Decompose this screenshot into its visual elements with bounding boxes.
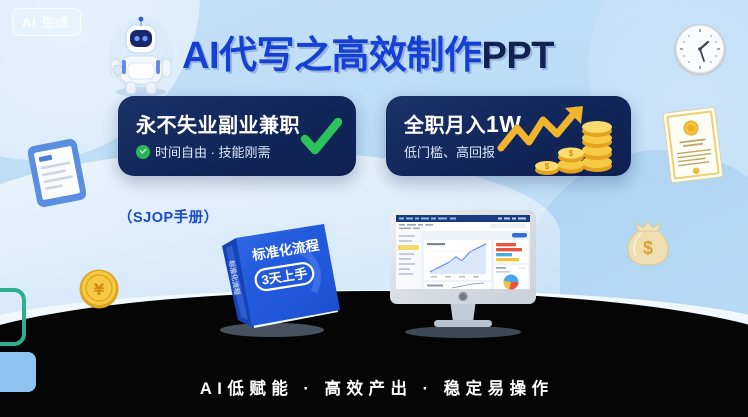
svg-text:¥: ¥ <box>93 280 104 299</box>
card-left-title: 永不失业副业兼职 <box>136 109 300 138</box>
page-title-main: AI代写之高效制作 <box>182 35 482 77</box>
robot-mascot-icon <box>104 14 178 98</box>
green-check-circle-icon <box>136 145 150 159</box>
footer-tagline: AI低赋能 · 高效产出 · 稳定易操作 <box>0 375 748 399</box>
card-right-subtitle: 低门槛、高回报 <box>404 142 495 161</box>
blue-card-icon <box>0 352 36 392</box>
imac-desktop-icon <box>372 204 554 339</box>
big-green-check-icon <box>300 116 342 158</box>
gold-coin-yuan-icon: ¥ <box>78 268 120 310</box>
ai-watermark-badge: AI 生成 <box>12 8 81 36</box>
card-monthly-income[interactable]: 全职月入1W 低门槛、高回报 <box>386 96 631 176</box>
gold-trend-arrow-coins-icon: $ $ <box>493 104 625 176</box>
wall-clock-icon <box>672 22 728 78</box>
svg-text:$: $ <box>569 149 574 158</box>
card-right-title-prefix: 全职月入 <box>404 115 486 137</box>
money-bag-dollar-icon: $ <box>622 220 674 270</box>
svg-text:$: $ <box>545 162 550 171</box>
svg-text:$: $ <box>643 238 653 258</box>
page-title: AI代写之高效制作PPT <box>182 24 554 79</box>
book-illustration: 标准化流程 3天上手 标准化流程 <box>198 216 348 338</box>
poster-canvas: AI 生成 AI代写之高效制作PPT 永 <box>0 0 748 417</box>
rounded-square-outline-icon <box>0 288 26 346</box>
card-no-unemployment[interactable]: 永不失业副业兼职 时间自由 · 技能刚需 <box>118 96 356 176</box>
card-left-subtitle-row: 时间自由 · 技能刚需 <box>136 142 271 161</box>
page-title-tail: PPT <box>482 35 554 77</box>
certificate-award-icon <box>662 106 724 184</box>
clipboard-document-icon <box>28 138 86 208</box>
card-left-subtitle: 时间自由 · 技能刚需 <box>155 142 271 161</box>
